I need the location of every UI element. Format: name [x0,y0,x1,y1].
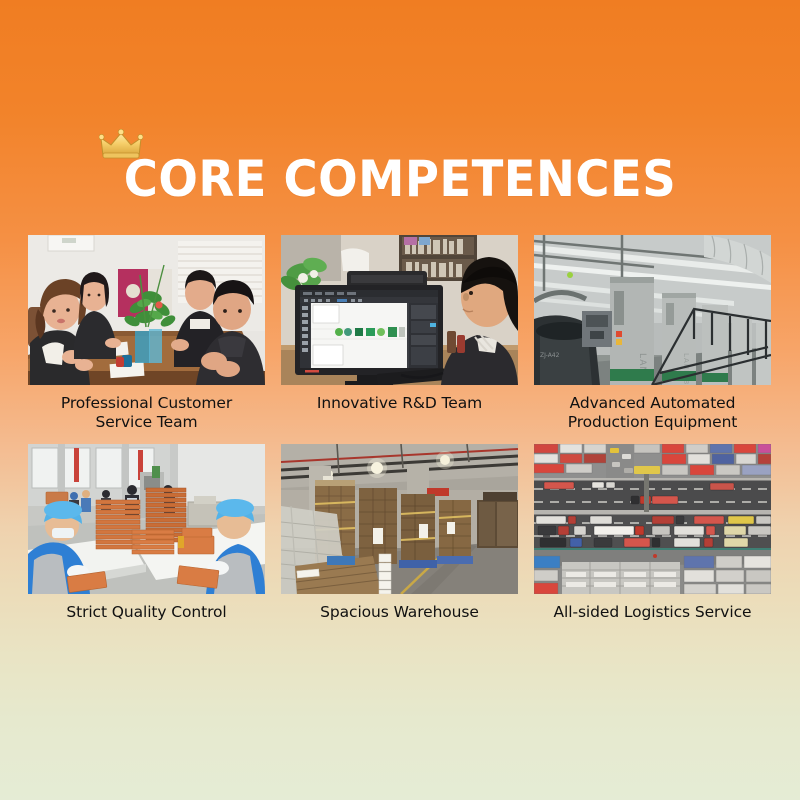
card-caption: Innovative R&D Team [281,394,518,432]
photo-logistics-container-yard [534,444,771,594]
title-wrapper: CORE COMPETENCES [103,150,697,208]
photo-warehouse-pallets [281,444,518,594]
competence-card-customer-service[interactable]: Professional Customer Service Team [28,235,265,432]
competence-card-quality-control[interactable]: Strict Quality Control [28,444,265,641]
card-caption: All-sided Logistics Service [534,603,771,641]
competence-card-rd-team[interactable]: Innovative R&D Team [281,235,518,432]
competence-grid: Professional Customer Service Team [28,235,772,641]
photo-customer-service-meeting [28,235,265,385]
page-title: CORE COMPETENCES [124,150,676,208]
card-caption: Strict Quality Control [28,603,265,641]
card-caption: Professional Customer Service Team [28,394,265,432]
photo-production-printing-press: LAND 800 LAND 800 ZJ-A42 [534,235,771,385]
competence-card-logistics[interactable]: All-sided Logistics Service [534,444,771,641]
competence-card-warehouse[interactable]: Spacious Warehouse [281,444,518,641]
svg-text:ZJ-A42: ZJ-A42 [540,352,560,359]
photo-rd-designer-computer [281,235,518,385]
card-caption: Spacious Warehouse [281,603,518,641]
header: CORE COMPETENCES [0,150,800,220]
photo-quality-control-workers [28,444,265,594]
card-caption: Advanced Automated Production Equipment [534,394,771,432]
competence-card-production-equipment[interactable]: LAND 800 LAND 800 ZJ-A42 [534,235,771,432]
core-competences-banner: CORE COMPETENCES [0,0,800,800]
